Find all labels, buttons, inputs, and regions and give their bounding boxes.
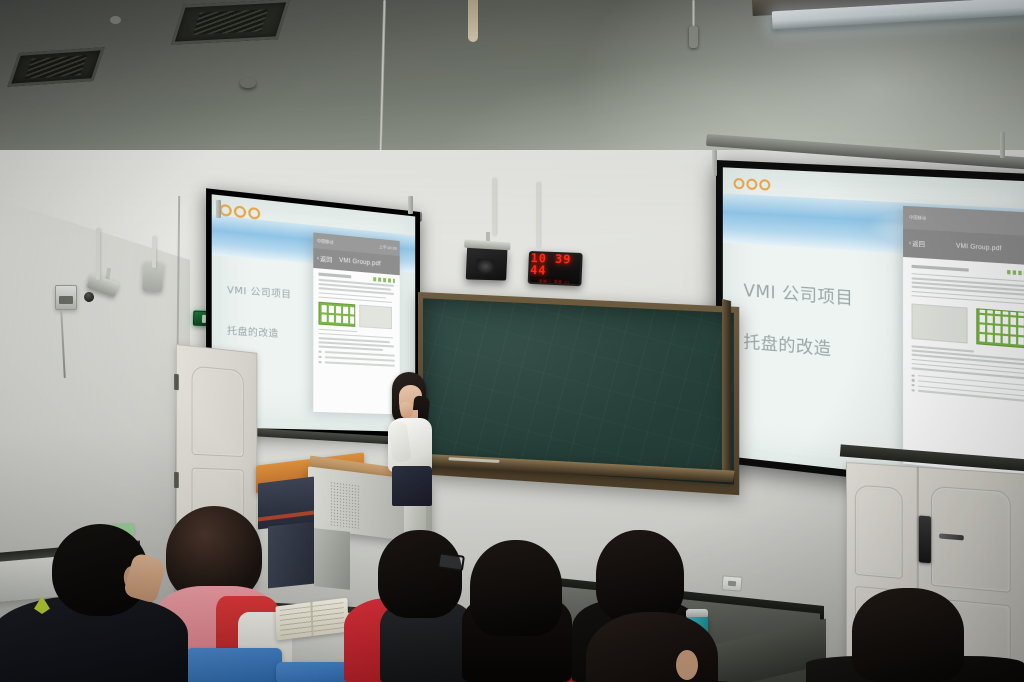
back-label: 返回	[320, 254, 332, 264]
student-head	[378, 530, 462, 618]
pdf-figure-green	[319, 302, 355, 327]
pdf-bullet-list	[319, 351, 395, 367]
podium-column-left	[268, 522, 314, 589]
pdf-figure-row	[319, 302, 395, 329]
slide-right: VMI 公司项目 托盘的改造 中国移动 上午10:39 ‹返回 VMI Grou…	[723, 167, 1024, 491]
book-text-lines	[280, 602, 345, 636]
pdf-page-body	[903, 257, 1024, 481]
door-hinge	[174, 472, 179, 488]
back-label: 返回	[912, 239, 925, 249]
screen-mount-bracket	[712, 150, 717, 176]
pdf-bullet-list	[912, 374, 1024, 404]
phone-screenshot-right: 中国移动 上午10:39 ‹返回 VMI Group.pdf	[903, 206, 1024, 481]
door-panel	[931, 486, 1010, 594]
led-wall-clock: 10 39 44 星期三 温度 21	[528, 251, 583, 286]
wall-conduit	[152, 236, 156, 268]
wall-conduit	[96, 228, 100, 280]
student-ear	[676, 650, 698, 680]
slide-heading: VMI 公司项目	[227, 282, 291, 301]
presenter-skirt	[392, 466, 432, 506]
slide-heading: VMI 公司项目	[743, 275, 853, 309]
pdf-green-header-mark	[1007, 270, 1024, 277]
pdf-section-heading	[912, 265, 968, 271]
carrier-label: 中国移动	[317, 238, 333, 246]
pdf-bullet-item	[319, 361, 395, 367]
air-vent-icon	[171, 0, 290, 45]
screen-mount-bracket	[408, 196, 413, 214]
air-vent-icon	[7, 47, 104, 87]
smoke-detector-icon	[240, 78, 256, 88]
ceiling-projector-box	[466, 247, 508, 281]
running-man-icon	[201, 314, 205, 322]
wall-conduit	[536, 182, 540, 248]
pdf-figure-gray	[912, 303, 968, 343]
slide-subheading: 托盘的改造	[743, 328, 831, 361]
screen-mount-bracket	[216, 200, 221, 218]
hanging-cord	[692, 0, 695, 28]
pdf-green-header-mark	[373, 277, 395, 283]
pdf-figure-green	[976, 308, 1024, 349]
student-head	[852, 588, 964, 682]
pdf-title: VMI Group.pdf	[925, 241, 1024, 254]
door-hinge	[174, 373, 179, 389]
glasses-icon	[437, 552, 465, 571]
orange-rings-logo-icon	[733, 178, 770, 191]
classroom-scene: VMI 公司项目 托盘的改造 中国移动 上午10:39 ‹返回 VMI Grou…	[0, 0, 1024, 682]
back-chevron-icon: ‹返回	[909, 239, 925, 249]
door-panel	[855, 485, 903, 579]
blackboard-right-edge	[722, 299, 731, 475]
electrical-box	[55, 285, 77, 310]
chair-blue[interactable]	[186, 648, 282, 682]
back-chevron-icon: ‹返回	[317, 254, 332, 265]
podium-column-right	[314, 528, 350, 590]
hanging-object	[468, 0, 478, 42]
pdf-text-line	[319, 328, 358, 332]
smoke-detector-icon	[110, 16, 121, 24]
door-panel	[191, 365, 243, 457]
wall-power-socket	[722, 575, 743, 591]
student-head	[470, 540, 562, 636]
podium-speaker-grille	[330, 481, 360, 529]
hanging-cord	[379, 0, 386, 158]
pdf-section-heading	[319, 273, 352, 278]
presenter-speaking	[378, 372, 440, 502]
pdf-figure-gray	[359, 305, 391, 329]
slide-subheading: 托盘的改造	[227, 323, 279, 340]
clock-sub-display: 星期三 温度 21	[539, 279, 570, 285]
student-head	[596, 530, 684, 622]
clock-time-display: 10 39 44	[530, 252, 581, 278]
wall-conduit	[492, 178, 496, 236]
clock-label: 上午10:39	[379, 244, 397, 252]
screen-mount-bracket	[1000, 132, 1005, 158]
pdf-title: VMI Group.pdf	[332, 257, 387, 268]
carrier-label: 中国移动	[909, 214, 926, 221]
cord-weight	[689, 26, 698, 48]
pdf-figure-row	[912, 303, 1024, 350]
door-lock-plate[interactable]	[919, 516, 931, 564]
